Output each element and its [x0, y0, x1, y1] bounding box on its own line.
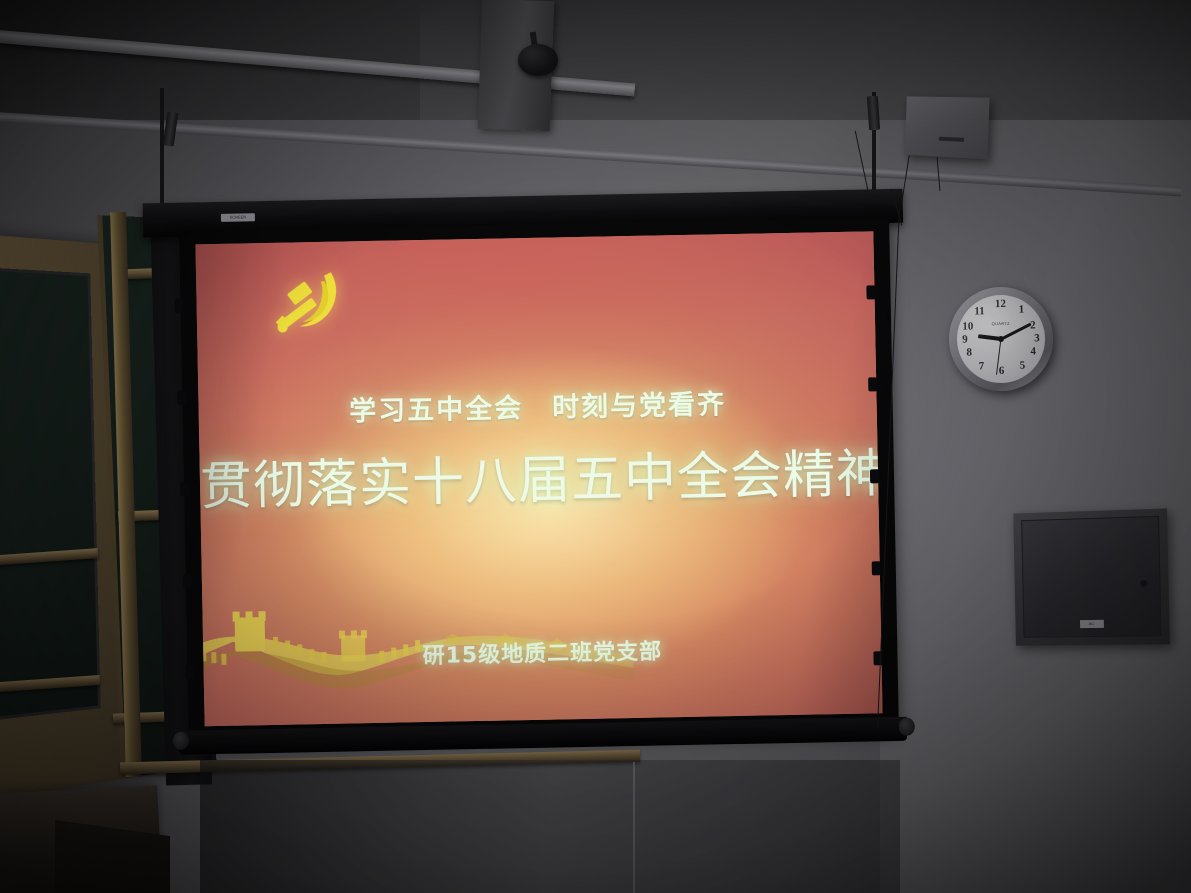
screen-tab-clip [180, 483, 189, 497]
panel-lock-icon[interactable] [1140, 580, 1147, 587]
panel-tag-label: AC [1079, 620, 1103, 628]
lower-wall-shadow [200, 760, 900, 893]
right-wall-section [880, 120, 1191, 893]
clock-brand-label: QUARTZ [992, 321, 1010, 326]
screen-tab-clip [870, 469, 879, 483]
clock-numeral: 10 [960, 321, 976, 332]
speaker-slot [939, 137, 964, 142]
screen-bar-knob-right [899, 718, 915, 736]
screen-brand-label: SCREEN [221, 213, 255, 222]
screen-tab-clip [868, 377, 877, 391]
clock-numeral: 11 [971, 306, 987, 317]
clock-numeral: 4 [1025, 346, 1041, 357]
clock-center-pin [998, 336, 1004, 342]
blackboard-panel-left [0, 266, 101, 724]
wall-access-panel[interactable]: AC [1013, 508, 1170, 645]
slide-subtitle: 学习五中全会 时刻与党看齐 [198, 379, 877, 431]
screen-tab-clip [186, 664, 195, 678]
wall-seam [633, 762, 635, 893]
classroom-photo: QUARTZ 12 1 2 3 4 5 6 7 8 9 10 11 AC [0, 0, 1191, 893]
clock-numeral: 8 [961, 347, 977, 358]
screen-tab-clip [177, 391, 186, 405]
slide-surface: 学习五中全会 时刻与党看齐 贯彻落实十八届五中全会精神 研15级地质二班党支部 [195, 231, 882, 726]
hanger-rod-left [160, 88, 164, 210]
clock-numeral: 12 [992, 299, 1008, 310]
projection-screen: SCREEN [143, 189, 914, 768]
screen-tab-clip [866, 285, 875, 299]
clock-numeral: 1 [1013, 304, 1029, 315]
screen-tab-clip [873, 651, 882, 665]
screen-tab-clip [174, 299, 183, 313]
wall-clock: QUARTZ 12 1 2 3 4 5 6 7 8 9 10 11 [948, 286, 1054, 392]
hanger-clamp-right [867, 96, 880, 131]
dome-sensor [518, 44, 558, 76]
access-panel-door[interactable]: AC [1021, 516, 1161, 638]
hammer-and-sickle-icon [264, 263, 351, 343]
wall-mounted-speaker-box [905, 96, 990, 159]
screen-tab-clip [872, 561, 881, 575]
clock-numeral: 9 [957, 334, 973, 345]
screen-tab-clip [183, 574, 192, 588]
clock-numeral: 5 [1014, 360, 1030, 371]
clock-numeral: 3 [1029, 333, 1045, 344]
clock-numeral: 7 [973, 361, 989, 372]
slide-title: 贯彻落实十八届五中全会精神 [199, 431, 878, 519]
